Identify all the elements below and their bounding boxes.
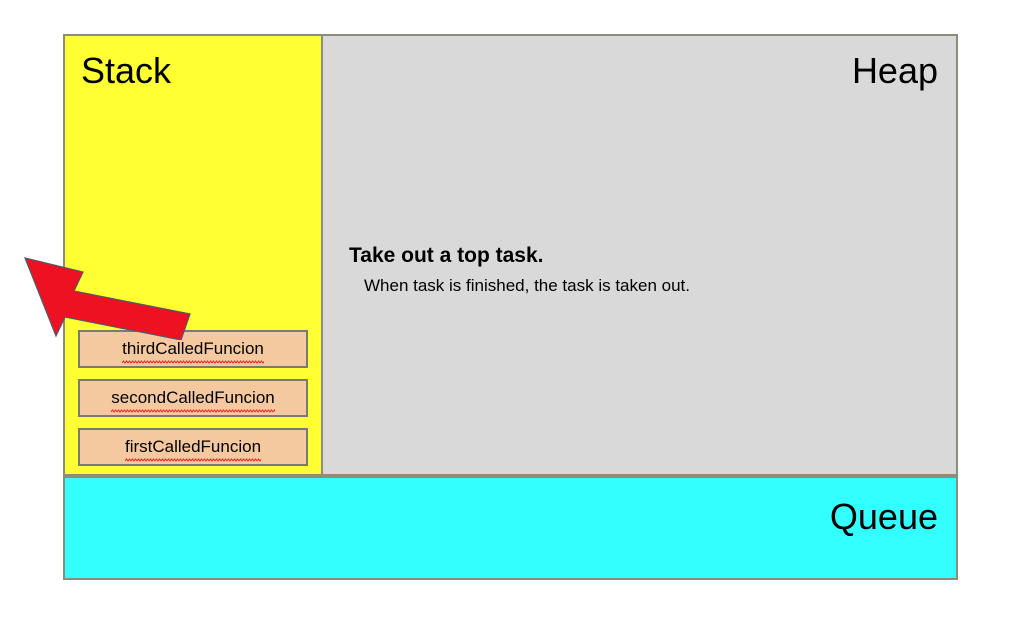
spellcheck-squiggle-icon [111, 409, 275, 413]
stack-frame-list: thirdCalledFuncion secondCalledFuncion f… [78, 330, 308, 466]
stack-frame-label-wrap: firstCalledFuncion [125, 437, 261, 457]
callout-text-block: Take out a top task. When task is finish… [349, 243, 729, 297]
stack-frame-label-wrap: thirdCalledFuncion [122, 339, 264, 359]
stack-frame-label: secondCalledFuncion [111, 388, 275, 407]
callout-heading: Take out a top task. [349, 243, 729, 269]
queue-label: Queue [830, 496, 938, 538]
stack-frame-label: thirdCalledFuncion [122, 339, 264, 358]
spellcheck-squiggle-icon [122, 360, 264, 364]
stack-frame-label: firstCalledFuncion [125, 437, 261, 456]
stack-label: Stack [81, 50, 171, 92]
memory-model-diagram: Heap Stack Queue thirdCalledFuncion seco… [0, 0, 1024, 634]
stack-frame-label-wrap: secondCalledFuncion [111, 388, 275, 408]
stack-frame-second[interactable]: secondCalledFuncion [78, 379, 308, 417]
spellcheck-squiggle-icon [125, 458, 261, 462]
callout-body: When task is finished, the task is taken… [364, 275, 704, 297]
stack-frame-first[interactable]: firstCalledFuncion [78, 428, 308, 466]
queue-region: Queue [63, 476, 958, 580]
stack-frame-third[interactable]: thirdCalledFuncion [78, 330, 308, 368]
heap-label: Heap [852, 50, 938, 92]
